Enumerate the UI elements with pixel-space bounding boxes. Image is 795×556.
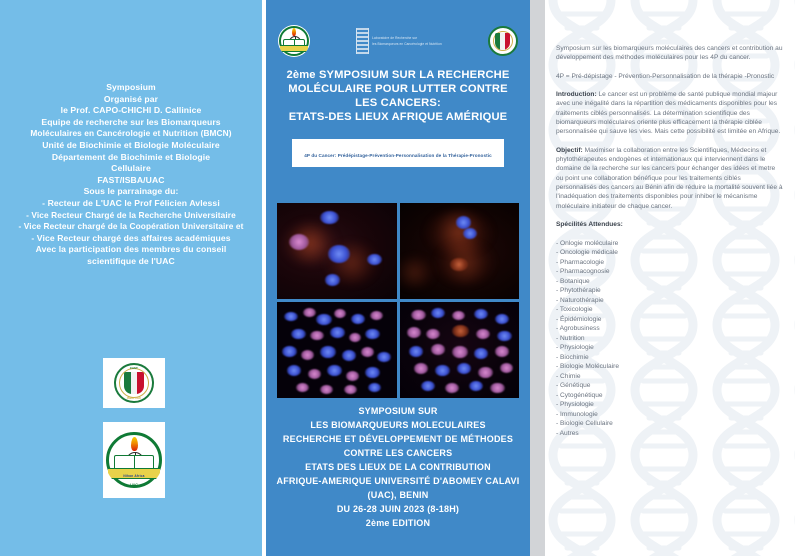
list-item: - Chimie [556,372,783,382]
list-item: - Biologie Moléculaire [556,362,783,372]
list-item: - Toxicologie [556,305,783,315]
list-item: - Naturothérapie [556,296,783,306]
title-line: MOLÉCULAIRE POUR LUTTER CONTRE [272,82,524,96]
right-panel: Symposium sur les biomarqueurs moléculai… [545,0,795,556]
list-item: - Onlogie moléculaire [556,239,783,249]
fast-shield-icon [124,372,144,394]
bmcn-logo-line: Laboratoire de Recherche sur [372,36,442,40]
organizer-line: Cellulaire [4,163,258,175]
fluorescence-micrograph-4 [400,302,520,398]
fast-shield-icon [495,33,510,50]
event-details: SYMPOSIUM SUR LES BIOMARQUEURS MOLECULAI… [266,404,530,530]
event-line: CONTRE LES CANCERS [271,446,525,460]
uac-emblem-icon: Nihon Africa UAC [105,431,163,489]
organizer-line: Symposium [4,82,258,94]
organizer-block: Symposium Organisé par le Prof. CAPO-CHI… [0,82,262,268]
fast-isba-logo: FAST ISBA UAC [103,358,165,408]
center-panel: Laboratoire de Recherche sur les Biomarq… [266,0,530,556]
bmcn-logo-line: les Biomarqueurs en Cancérologie et Nutr… [372,42,442,46]
four-p-banner-text: 4P du Cancer: Prédépistage-Prévention-Pe… [304,153,492,158]
organizer-line: le Prof. CAPO-CHICHI D. Callinice [4,105,258,117]
list-item: - Génétique [556,381,783,391]
symposium-poster: Symposium Organisé par le Prof. CAPO-CHI… [0,0,795,556]
event-date: DU 26-28 JUIN 2023 (8-18H) [271,502,525,516]
list-item: - Immunologie [556,410,783,420]
fluorescence-micrograph-3 [277,302,397,398]
organizer-line: - Vice Recteur chargé de la Coopération … [4,221,258,233]
torch-flame-icon [292,28,296,36]
uac-arc-text: UAC [105,483,163,487]
fluorescence-micrograph-2 [400,203,520,299]
list-item: - Agrobusiness [556,324,783,334]
objectif-text: Maximiser la collaboration entre les Sci… [556,147,783,210]
event-line: AFRIQUE-AMERIQUE UNIVERSITÉ D'ABOMEY CAL… [271,474,525,488]
event-line: RECHERCHE ET DÉVELOPPEMENT DE MÉTHODES [271,432,525,446]
right-content: Symposium sur les biomarqueurs moléculai… [545,0,795,438]
fast-logo-top-text: FAST [116,366,152,370]
four-p-banner: 4P du Cancer: Prédépistage-Prévention-Pe… [292,139,504,167]
organizer-line: FAST/ISBA/UAC [4,175,258,187]
list-item: - Cytogénétique [556,391,783,401]
list-item: - Épidémiologie [556,315,783,325]
organizer-line: Organisé par [4,94,258,106]
center-logo-row: Laboratoire de Recherche sur les Biomarq… [266,18,530,64]
event-line: (UAC), BENIN [271,488,525,502]
organizer-line: - Vice Recteur chargé des affaires acadé… [4,233,258,245]
event-edition: 2ème EDITION [271,516,525,530]
four-p-definition: 4P = Pré-dépistage - Prévention-Personna… [556,72,783,81]
objectif-paragraph: Objectif: Maximiser la collaboration ent… [556,146,783,211]
list-item: - Pharmacologie [556,258,783,268]
list-item: - Autres [556,429,783,439]
fast-emblem-icon [488,26,518,56]
objectif-label: Objectif: [556,147,583,154]
micrograph-grid [277,203,519,398]
fast-logo-bottom-text: ISBA UAC [116,396,152,400]
bmcn-mark-icon [356,28,369,54]
left-logo-stack: FAST ISBA UAC Nihon Africa UAC [103,358,165,512]
specialties-list: - Onlogie moléculaire - Oncologie médica… [556,239,783,439]
organizer-line: Département de Biochimie et Biologie [4,152,258,164]
event-line: ETATS DES LIEUX DE LA CONTRIBUTION [271,460,525,474]
uac-logo [278,25,310,57]
organizer-line: Moléculaires en Cancérologie et Nutritio… [4,128,258,140]
fast-isba-emblem-icon: FAST ISBA UAC [114,363,154,403]
uac-banner-shape [280,45,308,52]
uac-emblem-icon [278,25,310,57]
introduction-paragraph: Introduction: Le cancer est un problème … [556,90,783,137]
uac-logo: Nihon Africa UAC [103,422,165,498]
introduction-label: Introduction: [556,91,597,98]
title-line: 2ème SYMPOSIUM SUR LA RECHERCHE [272,68,524,82]
uac-banner-text: Nihon Africa [105,474,163,478]
organizer-line: Sous le parrainage du: [4,186,258,198]
list-item: - Nutrition [556,334,783,344]
list-item: - Botanique [556,277,783,287]
organizer-line: - Recteur de L'UAC le Prof Félicien Avle… [4,198,258,210]
intro-paragraph: Symposium sur les biomarqueurs moléculai… [556,44,783,63]
organizer-line: Avec la participation des membres du con… [4,244,258,256]
bmcn-lab-logo: Laboratoire de Recherche sur les Biomarq… [356,28,442,54]
list-item: - Physiologie [556,343,783,353]
left-panel: Symposium Organisé par le Prof. CAPO-CHI… [0,0,262,556]
specialties-heading: Spécilités Attendues: [556,220,783,229]
list-item: - Physiologie [556,400,783,410]
fluorescence-micrograph-1 [277,203,397,299]
organizer-line: - Vice Recteur Chargé de la Recherche Un… [4,210,258,222]
event-line: LES BIOMARQUEURS MOLECULAIRES [271,418,525,432]
organizer-line: Equipe de recherche sur les Biomarqueurs [4,117,258,129]
list-item: - Oncologie médicale [556,248,783,258]
title-line: ETATS-DES LIEUX AFRIQUE AMÉRIQUE [272,110,524,124]
organizer-line: Unité de Biochimie et Biologie Moléculai… [4,140,258,152]
divider-strip [530,0,545,556]
title-line: LES CANCERS: [272,96,524,110]
organizer-line: scientifique de l'UAC [4,256,258,268]
list-item: - Biochimie [556,353,783,363]
torch-flame-icon [131,437,138,451]
event-line: SYMPOSIUM SUR [271,404,525,418]
list-item: - Phytothérapie [556,286,783,296]
list-item: - Pharmacognosie [556,267,783,277]
list-item: - Biologie Cellulaire [556,419,783,429]
fast-logo [488,26,518,56]
symposium-title: 2ème SYMPOSIUM SUR LA RECHERCHE MOLÉCULA… [266,68,530,124]
